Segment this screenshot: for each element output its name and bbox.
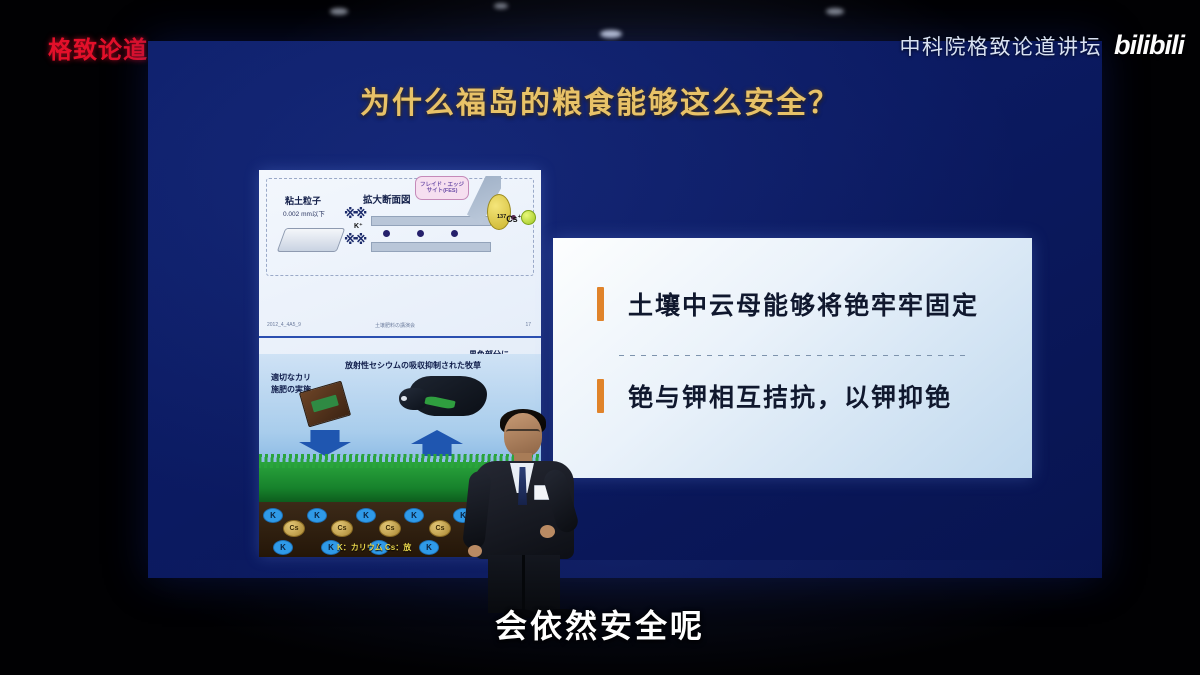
speaker-person — [466, 413, 582, 613]
figure-footer: 2012_4_4A5_9 土壌肥料の講演会 17 — [259, 322, 541, 336]
glasses-icon — [506, 429, 540, 439]
cesium-charge: + — [518, 214, 521, 220]
bullet-item: 铯与钾相互拮抗，以钾抑铯 — [597, 378, 1008, 414]
stage-spotlight-icon — [600, 30, 622, 38]
cow-eye — [401, 396, 407, 401]
bottom-left-label-line1: 適切なカリ — [271, 372, 311, 384]
stage-spotlight-icon — [330, 8, 348, 15]
stage-spotlight-icon — [826, 8, 844, 15]
cesium-137-label: 137Cs+ — [497, 214, 521, 224]
footer-caption: 土壌肥料の講演会 — [375, 322, 415, 329]
potassium-ion-label: K⁺ — [354, 222, 363, 230]
bottom-picture-title: 放射性セシウムの吸収抑制された牧草 — [345, 360, 481, 371]
cesium-ion-dot: Cs — [283, 520, 305, 537]
bullet-item: 土壤中云母能够将铯牢牢固定 — [597, 286, 1008, 322]
fes-site-blob — [487, 194, 511, 230]
video-frame: 格致论道 中科院格致论道讲坛 bilibili 为什么福岛的粮食能够这么安全？ … — [0, 0, 1200, 675]
subtitle-caption: 会依然安全呢 — [0, 601, 1200, 647]
bullet-text: 土壤中云母能够将铯牢牢固定 — [628, 286, 979, 322]
interlayer-ion — [383, 230, 390, 237]
bullet-marker-icon — [597, 379, 604, 413]
ion-legend: K：カリウム Cs：放 — [337, 542, 411, 553]
cross-section-label: 拡大断面図 — [363, 192, 411, 206]
up-arrow-icon — [411, 430, 463, 456]
slide-text-panel: 土壤中云母能够将铯牢牢固定 铯与钾相互拮抗，以钾抑铯 — [553, 238, 1032, 478]
bullet-divider — [619, 355, 970, 356]
clay-particle-shape — [277, 228, 346, 252]
speaker-left-hand — [468, 545, 482, 557]
watermark-text: 中科院格致论道讲坛 — [900, 31, 1103, 61]
fes-callout-box: フレイド・エッジ サイト(FES) — [415, 176, 469, 200]
layer-bar — [371, 242, 491, 252]
bullet-marker-icon — [597, 287, 604, 321]
cesium-mass-number: 137 — [497, 214, 506, 220]
interlayer-ion — [417, 230, 424, 237]
potassium-ion-dot: K — [307, 508, 327, 523]
mica-lattice-icon: ※※ — [344, 232, 365, 248]
cow-head — [399, 388, 427, 410]
bullet-text: 铯与钾相互拮抗，以钾抑铯 — [628, 378, 952, 414]
cesium-ion-dot: Cs — [429, 520, 451, 537]
cesium-ion-icon — [521, 210, 536, 225]
clay-size-label: 0.002 mm以下 — [283, 208, 325, 218]
interlayer-ion — [451, 230, 458, 237]
fes-label-line2: サイト(FES) — [427, 188, 458, 194]
down-arrow-icon — [299, 430, 351, 456]
cesium-ion-dot: Cs — [331, 520, 353, 537]
footer-code: 2012_4_4A5_9 — [267, 322, 301, 328]
speaker-right-hand — [540, 525, 555, 538]
cow-illustration — [409, 376, 487, 416]
slide-title: 为什么福岛的粮食能够这么安全？ — [0, 78, 1200, 122]
bilibili-logo: bilibili — [1114, 30, 1184, 61]
clay-particle-label: 粘土粒子 — [285, 194, 321, 207]
fertilizer-bag-label — [311, 395, 339, 413]
potassium-ion-dot: K — [419, 540, 439, 555]
cesium-symbol: Cs — [506, 214, 518, 224]
channel-logo: 格致论道 — [44, 30, 152, 64]
watermark: 中科院格致论道讲坛 bilibili — [900, 30, 1185, 61]
cesium-ion-dot: Cs — [379, 520, 401, 537]
grass-in-mouth-icon — [424, 395, 455, 410]
potassium-ion-dot: K — [404, 508, 424, 523]
potassium-ion-dot: K — [263, 508, 283, 523]
figure-divider — [259, 336, 541, 338]
stage-spotlight-icon — [494, 3, 508, 9]
mica-lattice-icon: ※※ — [344, 206, 365, 222]
potassium-ion-dot: K — [356, 508, 376, 523]
potassium-ion-dot: K — [273, 540, 293, 555]
footer-page-number: 17 — [525, 322, 531, 328]
